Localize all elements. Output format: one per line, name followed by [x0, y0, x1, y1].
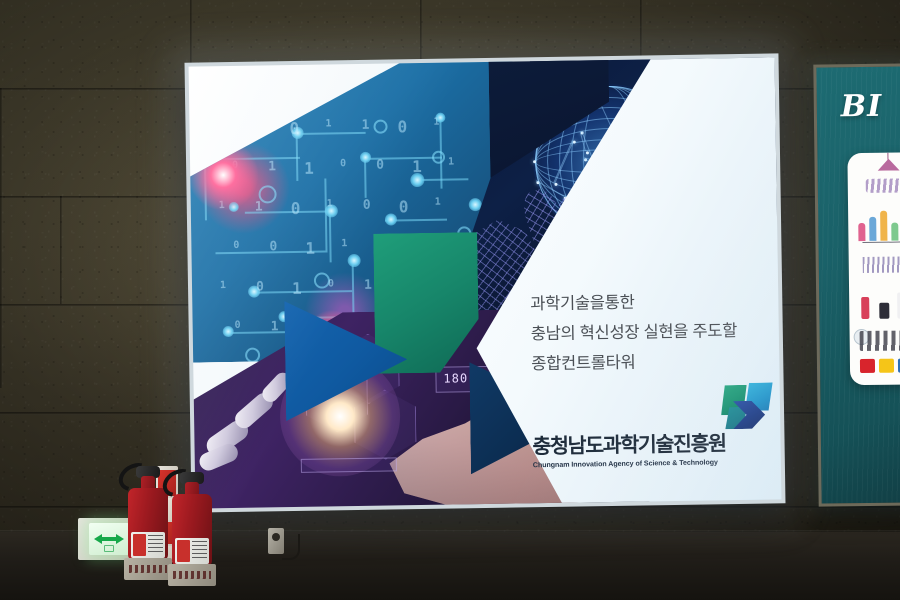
people-illustration [854, 202, 900, 249]
label-text-lines [192, 541, 207, 561]
organization-name-korean: 충청남도과학기술진흥원 [532, 426, 758, 460]
product-illustration [859, 284, 900, 319]
headline-line-3: 종합컨트롤타워 [531, 345, 779, 379]
binary-digit: 0 [253, 119, 261, 134]
headline-line-2: 충남의 혁신성장 실현을 주도할 [531, 315, 779, 349]
organization-block: 충청남도과학기술진흥원 Chungnam Innovation Agency o… [532, 426, 759, 470]
side-poster-card [847, 152, 900, 385]
binary-digit: 0 [376, 158, 384, 173]
binary-digit: 1 [448, 156, 454, 167]
card-headline-text [860, 330, 900, 351]
corridor-scene: BI 1001101011001111010010011010101011001… [0, 0, 900, 600]
binary-digit: 1 [220, 280, 226, 291]
binary-digit: 1 [433, 117, 439, 128]
circuit-node [223, 326, 234, 337]
circuit-trace [364, 158, 367, 198]
person-figure [869, 217, 876, 241]
product-item [879, 303, 889, 319]
headline-line-1: 과학기술을통한 [530, 285, 778, 319]
person-figure [858, 223, 865, 241]
side-poster[interactable]: BI [813, 63, 900, 506]
lamp-cord [887, 153, 888, 160]
circuit-ring [373, 120, 387, 134]
sponsor-logos [860, 358, 900, 375]
circuit-trace [329, 210, 332, 262]
circuit-trace [352, 260, 355, 318]
product-item [861, 297, 869, 319]
illustration-ground [862, 241, 900, 243]
fire-extinguisher [172, 468, 216, 588]
arrow-right-icon [116, 534, 124, 544]
binary-digit: 0 [397, 117, 407, 136]
label-text-lines [148, 535, 163, 555]
binary-digit: 1 [341, 238, 347, 249]
stand-text [129, 565, 167, 573]
circuit-trace [256, 290, 352, 294]
binary-digit: 1 [271, 319, 279, 334]
circuit-node [348, 254, 361, 267]
label-red-block [177, 540, 190, 562]
person-figure [880, 211, 887, 241]
extinguisher-label [131, 532, 165, 558]
circuit-ring [245, 348, 260, 363]
light-flare [189, 140, 259, 211]
binary-digit: 0 [269, 239, 277, 254]
circuit-node [469, 198, 482, 211]
circuit-node [385, 213, 397, 225]
illuminated-poster[interactable]: 1001101011001111010010011010101011001001… [185, 53, 786, 512]
binary-digit: 0 [233, 240, 239, 251]
binary-digit: 1 [268, 159, 276, 174]
exit-arrow-bar [101, 537, 117, 541]
binary-digit: 1 [305, 239, 315, 258]
label-red-block [133, 534, 146, 556]
extinguisher-stand [124, 558, 172, 580]
extinguisher-body [172, 494, 212, 566]
circuit-node [360, 152, 371, 163]
binary-digit: 0 [289, 119, 299, 138]
card-caption-text [863, 256, 900, 273]
binary-digit: 1 [292, 279, 302, 298]
circuit-node [200, 152, 214, 166]
binary-digit: 0 [328, 278, 334, 289]
binary-digit: 0 [256, 279, 264, 294]
sponsor-logo [860, 359, 875, 373]
binary-digit: 1 [361, 118, 369, 133]
binary-digit: 1 [364, 278, 372, 293]
binary-digit: 1 [255, 199, 263, 214]
binary-digit: 1 [435, 197, 441, 208]
exit-sign-face [89, 523, 129, 555]
socket-hole [272, 533, 280, 541]
binary-digit: 0 [399, 197, 409, 216]
card-script-text [866, 178, 900, 193]
binary-digit: 1 [325, 118, 331, 129]
hud-bar [301, 457, 397, 473]
binary-digit: 1 [217, 120, 223, 131]
exit-pictogram [104, 545, 114, 552]
binary-digit: 0 [363, 198, 371, 213]
sponsor-logo [879, 359, 894, 373]
circuit-trace [296, 132, 366, 135]
stand-text [173, 571, 211, 579]
circuit-ring [432, 151, 445, 164]
extinguisher-body [128, 488, 168, 560]
binary-digit: 1 [304, 159, 314, 178]
person-figure [891, 223, 898, 241]
circuit-trace [296, 133, 299, 181]
extinguisher-label [175, 538, 209, 564]
extinguisher-stand [168, 564, 216, 586]
agency-logo [721, 382, 774, 429]
poster-artwork: 1001101011001111010010011010101011001001… [189, 57, 782, 508]
side-poster-title: BI [841, 89, 883, 125]
poster-headline: 과학기술을통한 충남의 혁신성장 실현을 주도할 종합컨트롤타워 [530, 285, 779, 379]
lamp-icon [877, 159, 899, 171]
binary-digit: 0 [235, 320, 241, 331]
binary-digit: 1 [412, 157, 422, 176]
binary-digit: 0 [291, 199, 301, 218]
socket-cable [282, 534, 300, 560]
binary-digit: 0 [340, 158, 346, 169]
binary-digit: 1 [327, 198, 333, 209]
